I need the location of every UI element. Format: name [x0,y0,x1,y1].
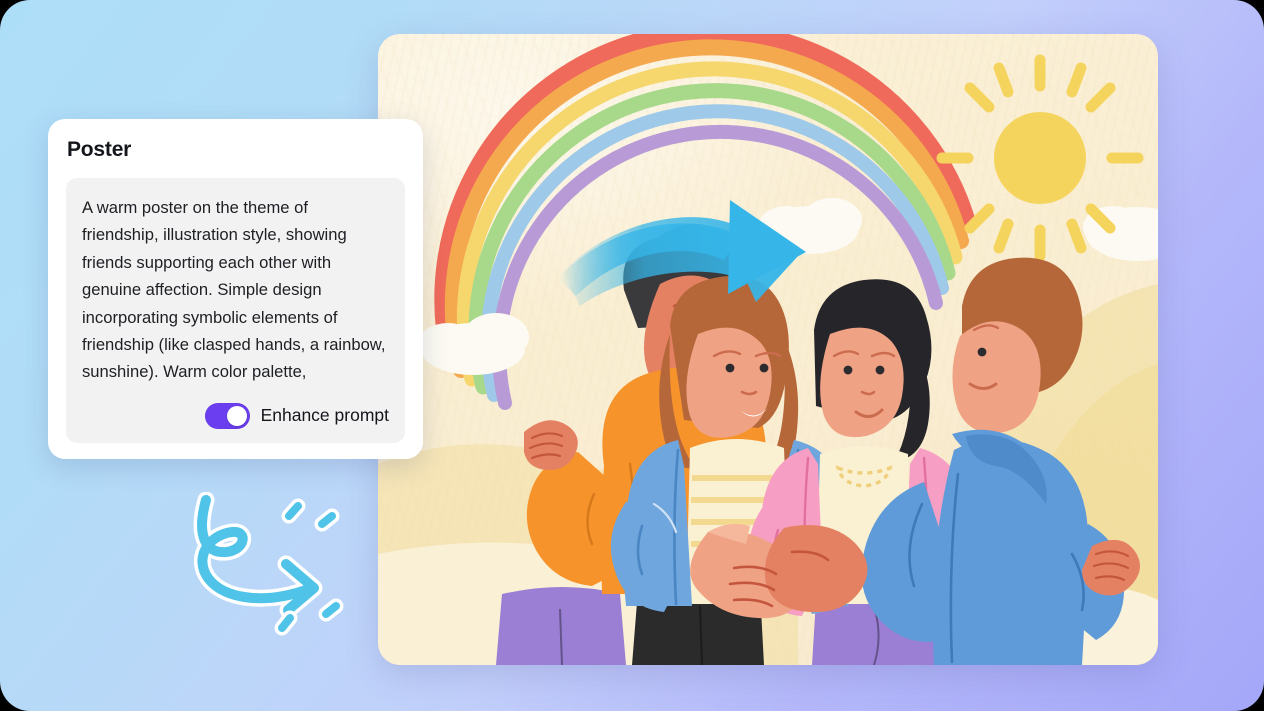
prompt-text[interactable]: A warm poster on the theme of friendship… [82,194,389,386]
curly-arrow-doodle [170,492,375,652]
prompt-card[interactable]: Poster A warm poster on the theme of fri… [48,119,423,459]
toggle-knob [227,406,247,426]
generated-poster-image[interactable] [378,34,1158,665]
poster-illustration [378,34,1158,665]
sun [942,60,1138,256]
prompt-input-box[interactable]: A warm poster on the theme of friendship… [66,178,405,443]
page-title: Poster [67,138,405,162]
cloud-left [418,313,529,375]
enhance-prompt-label: Enhance prompt [261,405,389,426]
app-canvas: Poster A warm poster on the theme of fri… [0,0,1264,711]
enhance-prompt-toggle[interactable] [205,403,250,429]
enhance-prompt-row[interactable]: Enhance prompt [82,403,389,429]
clasped-hands-handshake [690,524,867,618]
